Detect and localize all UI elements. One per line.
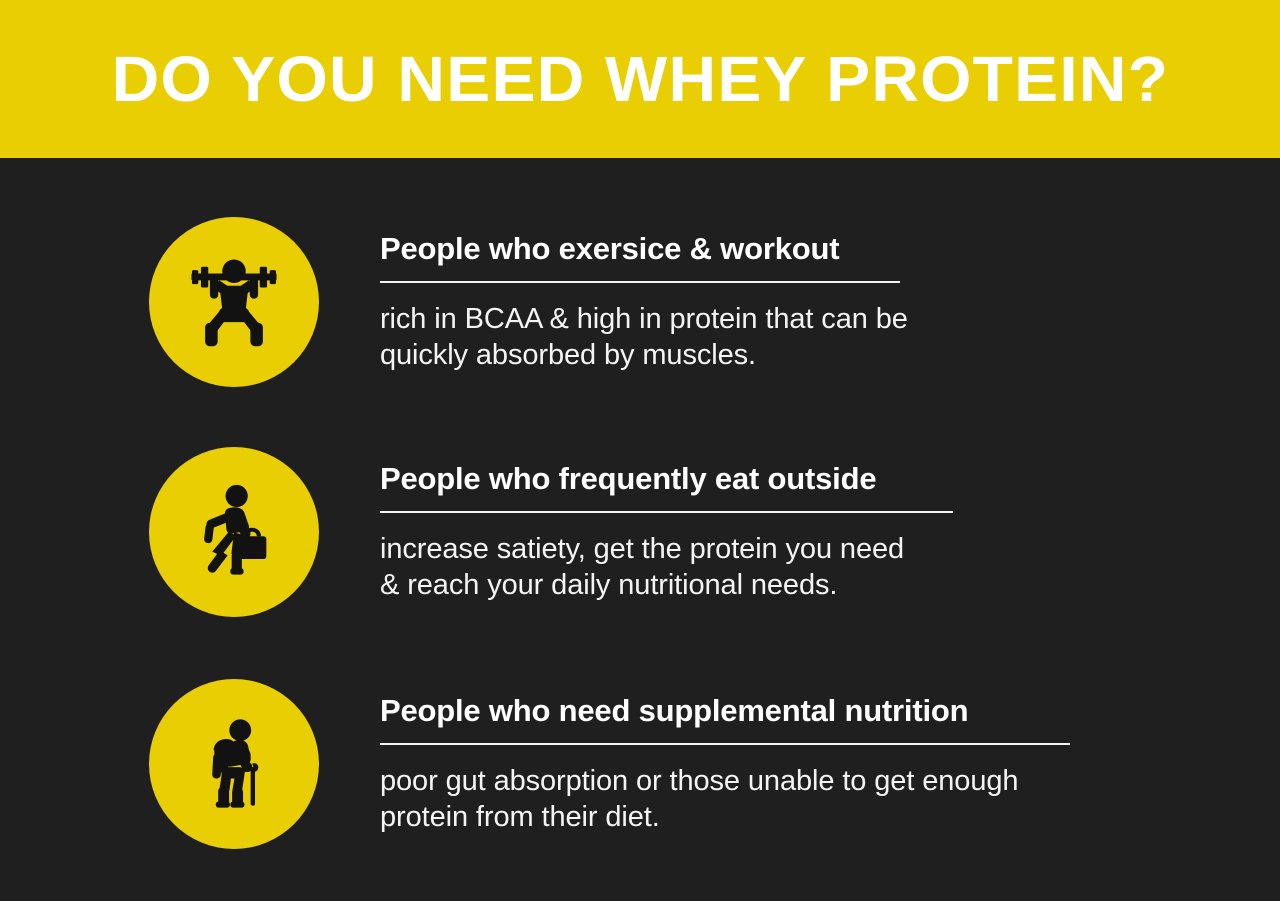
row-body: poor gut absorption or those unable to g… bbox=[380, 763, 1280, 837]
row-divider bbox=[380, 281, 900, 283]
row-heading: People who need supplemental nutrition bbox=[380, 693, 968, 730]
row-body: increase satiety, get the protein you ne… bbox=[380, 531, 1280, 605]
elderly-person-with-cane-icon bbox=[182, 712, 286, 816]
row-body: rich in BCAA & high in protein that can … bbox=[380, 301, 1280, 375]
walking-businessperson-briefcase-icon bbox=[181, 479, 287, 585]
weightlifter-squat-icon bbox=[178, 246, 290, 358]
row-divider bbox=[380, 743, 1070, 745]
icon-badge-1 bbox=[149, 217, 319, 387]
row-heading: People who exersice & workout bbox=[380, 231, 839, 268]
icon-badge-3 bbox=[149, 679, 319, 849]
row-heading: People who frequently eat outside bbox=[380, 461, 876, 498]
list-item: People who exersice & workout rich in BC… bbox=[0, 217, 1280, 387]
list-item: People who need supplemental nutrition p… bbox=[0, 679, 1280, 849]
row-divider bbox=[380, 511, 953, 513]
header-band: DO YOU NEED WHEY PROTEIN? bbox=[0, 0, 1280, 158]
list-item: People who frequently eat outside increa… bbox=[0, 447, 1280, 617]
page-title: DO YOU NEED WHEY PROTEIN? bbox=[111, 47, 1169, 111]
content-rows: People who exersice & workout rich in BC… bbox=[0, 158, 1280, 901]
infographic-poster: DO YOU NEED WHEY PROTEIN? bbox=[0, 0, 1280, 901]
icon-badge-2 bbox=[149, 447, 319, 617]
row-text-2: People who frequently eat outside increa… bbox=[380, 447, 1280, 604]
row-text-3: People who need supplemental nutrition p… bbox=[380, 679, 1280, 836]
row-text-1: People who exersice & workout rich in BC… bbox=[380, 217, 1280, 374]
